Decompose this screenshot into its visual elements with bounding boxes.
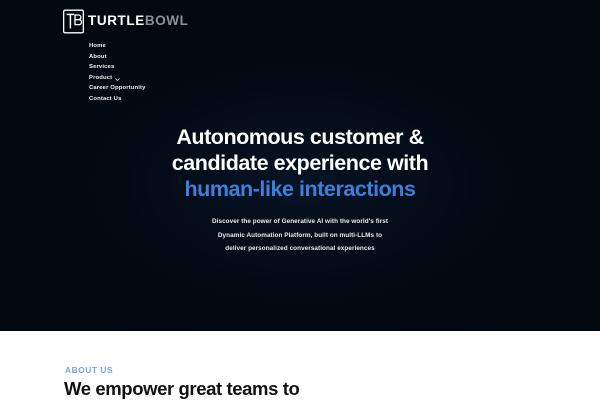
main-navigation: Home About Services Product Career Oppor… <box>89 41 146 105</box>
logo-wordmark: TURTLEBOWL <box>88 14 188 28</box>
hero-headline-line-3-accent: human-like interactions <box>185 177 416 201</box>
hero-subheading: Discover the power of Generative AI with… <box>0 215 600 255</box>
about-section-title: We empower great teams to <box>64 377 299 400</box>
nav-item-label: Contact Us <box>89 94 122 105</box>
nav-item-label: Product <box>89 73 112 84</box>
about-eyebrow-label: ABOUT US <box>65 365 113 375</box>
nav-item-career-opportunity[interactable]: Career Opportunity <box>89 83 146 94</box>
site-logo[interactable]: TURTLEBOWL <box>63 8 188 34</box>
nav-item-services[interactable]: Services <box>89 62 146 73</box>
page-root: TURTLEBOWL Home About Services Product <box>0 0 600 400</box>
hero-headline-line-2: candidate experience with <box>172 151 428 175</box>
nav-item-label: About <box>89 52 107 63</box>
nav-item-label: Home <box>89 41 106 52</box>
hero-subheading-line-2: Dynamic Automation Platform, built on mu… <box>218 232 382 239</box>
nav-item-product[interactable]: Product <box>89 73 146 84</box>
logo-word-primary: TURTLE <box>88 14 145 28</box>
turtlebowl-monogram-icon <box>63 9 84 34</box>
hero-subheading-line-1: Discover the power of Generative AI with… <box>212 218 388 225</box>
nav-item-label: Services <box>89 62 114 73</box>
nav-item-contact-us[interactable]: Contact Us <box>89 94 146 105</box>
about-section: ABOUT US We empower great teams to <box>0 331 600 400</box>
hero-headline: Autonomous customer & candidate experien… <box>0 124 600 202</box>
hero-section: TURTLEBOWL Home About Services Product <box>0 0 600 331</box>
chevron-down-icon <box>115 76 120 81</box>
nav-item-home[interactable]: Home <box>89 41 146 52</box>
logo-word-secondary: BOWL <box>145 14 189 28</box>
hero-subheading-line-3: deliver personalized conversational expe… <box>225 245 374 252</box>
nav-item-about[interactable]: About <box>89 52 146 63</box>
nav-item-label: Career Opportunity <box>89 83 146 94</box>
hero-headline-line-1: Autonomous customer & <box>176 125 423 149</box>
